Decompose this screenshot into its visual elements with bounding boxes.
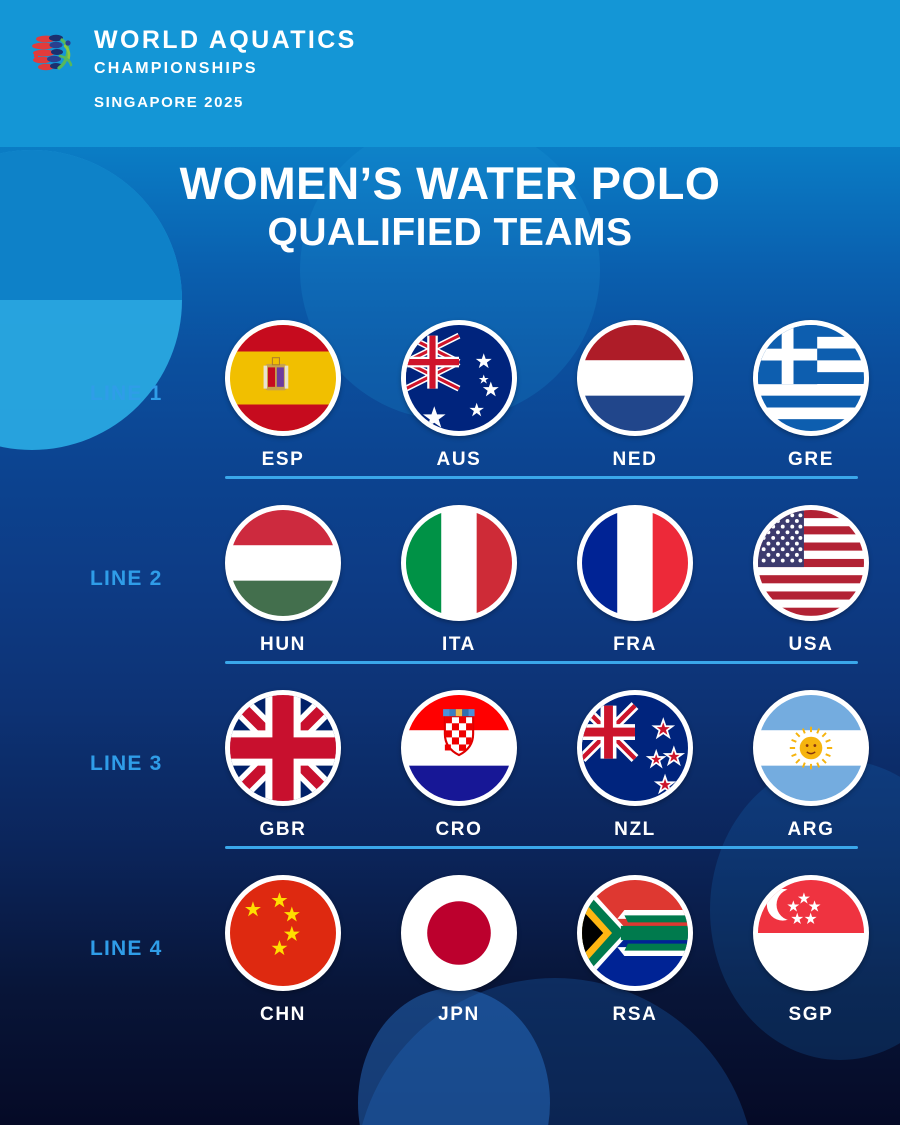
world-aquatics-globe-icon [24, 26, 80, 82]
row-divider [225, 846, 858, 849]
flag-badge[interactable] [401, 875, 517, 991]
flag-spain-icon [230, 325, 336, 431]
row-label-line-4: LINE 4 [90, 937, 163, 961]
page-title: WOMEN’S WATER POLO QUALIFIED TEAMS [0, 160, 900, 254]
team-usa[interactable]: USA [723, 491, 899, 656]
team-code: JPN [371, 1004, 547, 1026]
team-code: ITA [371, 634, 547, 656]
flag-argentina-icon [758, 695, 864, 801]
team-chn[interactable]: CHN [195, 861, 371, 1026]
row-label-line-2: LINE 2 [90, 567, 163, 591]
poster-canvas: WORLD AQUATICS CHAMPIONSHIPS SINGAPORE 2… [0, 0, 900, 1125]
team-row: LINE 2 HUN ITA [0, 491, 900, 676]
row-label-line-1: LINE 1 [90, 382, 163, 406]
flag-usa-icon [758, 510, 864, 616]
header-band: WORLD AQUATICS CHAMPIONSHIPS SINGAPORE 2… [0, 0, 900, 147]
team-code: NED [547, 449, 723, 471]
brand-wordmark: WORLD AQUATICS CHAMPIONSHIPS SINGAPORE 2… [94, 26, 357, 110]
team-code: HUN [195, 634, 371, 656]
team-code: SGP [723, 1004, 899, 1026]
team-list: CHN JPN RSA [195, 861, 900, 1046]
flag-great-britain-icon [230, 695, 336, 801]
brand-line-championships: CHAMPIONSHIPS [94, 61, 357, 77]
flag-badge[interactable] [577, 505, 693, 621]
flag-badge[interactable] [753, 875, 869, 991]
flag-netherlands-icon [582, 325, 688, 431]
flag-badge[interactable] [401, 320, 517, 436]
team-ned[interactable]: NED [547, 306, 723, 471]
team-code: NZL [547, 819, 723, 841]
team-code: CHN [195, 1004, 371, 1026]
team-jpn[interactable]: JPN [371, 861, 547, 1026]
team-ita[interactable]: ITA [371, 491, 547, 656]
team-list: GBR CRO NZL [195, 676, 900, 861]
team-code: RSA [547, 1004, 723, 1026]
flag-badge[interactable] [401, 505, 517, 621]
team-row: LINE 1 ESP AUS [0, 306, 900, 491]
title-sub: QUALIFIED TEAMS [0, 212, 900, 254]
brand-lockup: WORLD AQUATICS CHAMPIONSHIPS SINGAPORE 2… [24, 26, 357, 110]
team-code: USA [723, 634, 899, 656]
flag-badge[interactable] [753, 690, 869, 806]
flag-badge[interactable] [753, 320, 869, 436]
brand-line-world-aquatics: WORLD AQUATICS [94, 28, 357, 53]
team-code: FRA [547, 634, 723, 656]
flag-badge[interactable] [577, 875, 693, 991]
team-code: ESP [195, 449, 371, 471]
flag-croatia-icon [406, 695, 512, 801]
flag-singapore-icon [758, 880, 864, 986]
team-code: ARG [723, 819, 899, 841]
team-list: HUN ITA FRA [195, 491, 900, 676]
flag-badge[interactable] [225, 505, 341, 621]
flag-south-africa-icon [582, 880, 688, 986]
team-gre[interactable]: GRE [723, 306, 899, 471]
team-code: GRE [723, 449, 899, 471]
flag-badge[interactable] [225, 875, 341, 991]
team-arg[interactable]: ARG [723, 676, 899, 841]
team-esp[interactable]: ESP [195, 306, 371, 471]
team-fra[interactable]: FRA [547, 491, 723, 656]
row-divider [225, 661, 858, 664]
qualified-teams-grid: LINE 1 ESP AUS [0, 306, 900, 1046]
row-label-line-3: LINE 3 [90, 752, 163, 776]
team-row: LINE 4 CHN JPN [0, 861, 900, 1046]
flag-greece-icon [758, 325, 864, 431]
flag-australia-icon [406, 325, 512, 431]
flag-badge[interactable] [753, 505, 869, 621]
flag-hungary-icon [230, 510, 336, 616]
team-code: AUS [371, 449, 547, 471]
flag-badge[interactable] [577, 690, 693, 806]
flag-japan-icon [406, 880, 512, 986]
team-hun[interactable]: HUN [195, 491, 371, 656]
flag-china-icon [230, 880, 336, 986]
flag-badge[interactable] [401, 690, 517, 806]
flag-italy-icon [406, 510, 512, 616]
team-rsa[interactable]: RSA [547, 861, 723, 1026]
team-aus[interactable]: AUS [371, 306, 547, 471]
brand-line-singapore-2025: SINGAPORE 2025 [94, 95, 357, 110]
row-divider [225, 476, 858, 479]
flag-badge[interactable] [577, 320, 693, 436]
team-code: CRO [371, 819, 547, 841]
flag-france-icon [582, 510, 688, 616]
team-list: ESP AUS NED [195, 306, 900, 491]
title-main: WOMEN’S WATER POLO [0, 160, 900, 208]
flag-new-zealand-icon [582, 695, 688, 801]
flag-badge[interactable] [225, 320, 341, 436]
team-gbr[interactable]: GBR [195, 676, 371, 841]
team-code: GBR [195, 819, 371, 841]
flag-badge[interactable] [225, 690, 341, 806]
team-row: LINE 3 GBR CRO [0, 676, 900, 861]
team-sgp[interactable]: SGP [723, 861, 899, 1026]
team-cro[interactable]: CRO [371, 676, 547, 841]
team-nzl[interactable]: NZL [547, 676, 723, 841]
